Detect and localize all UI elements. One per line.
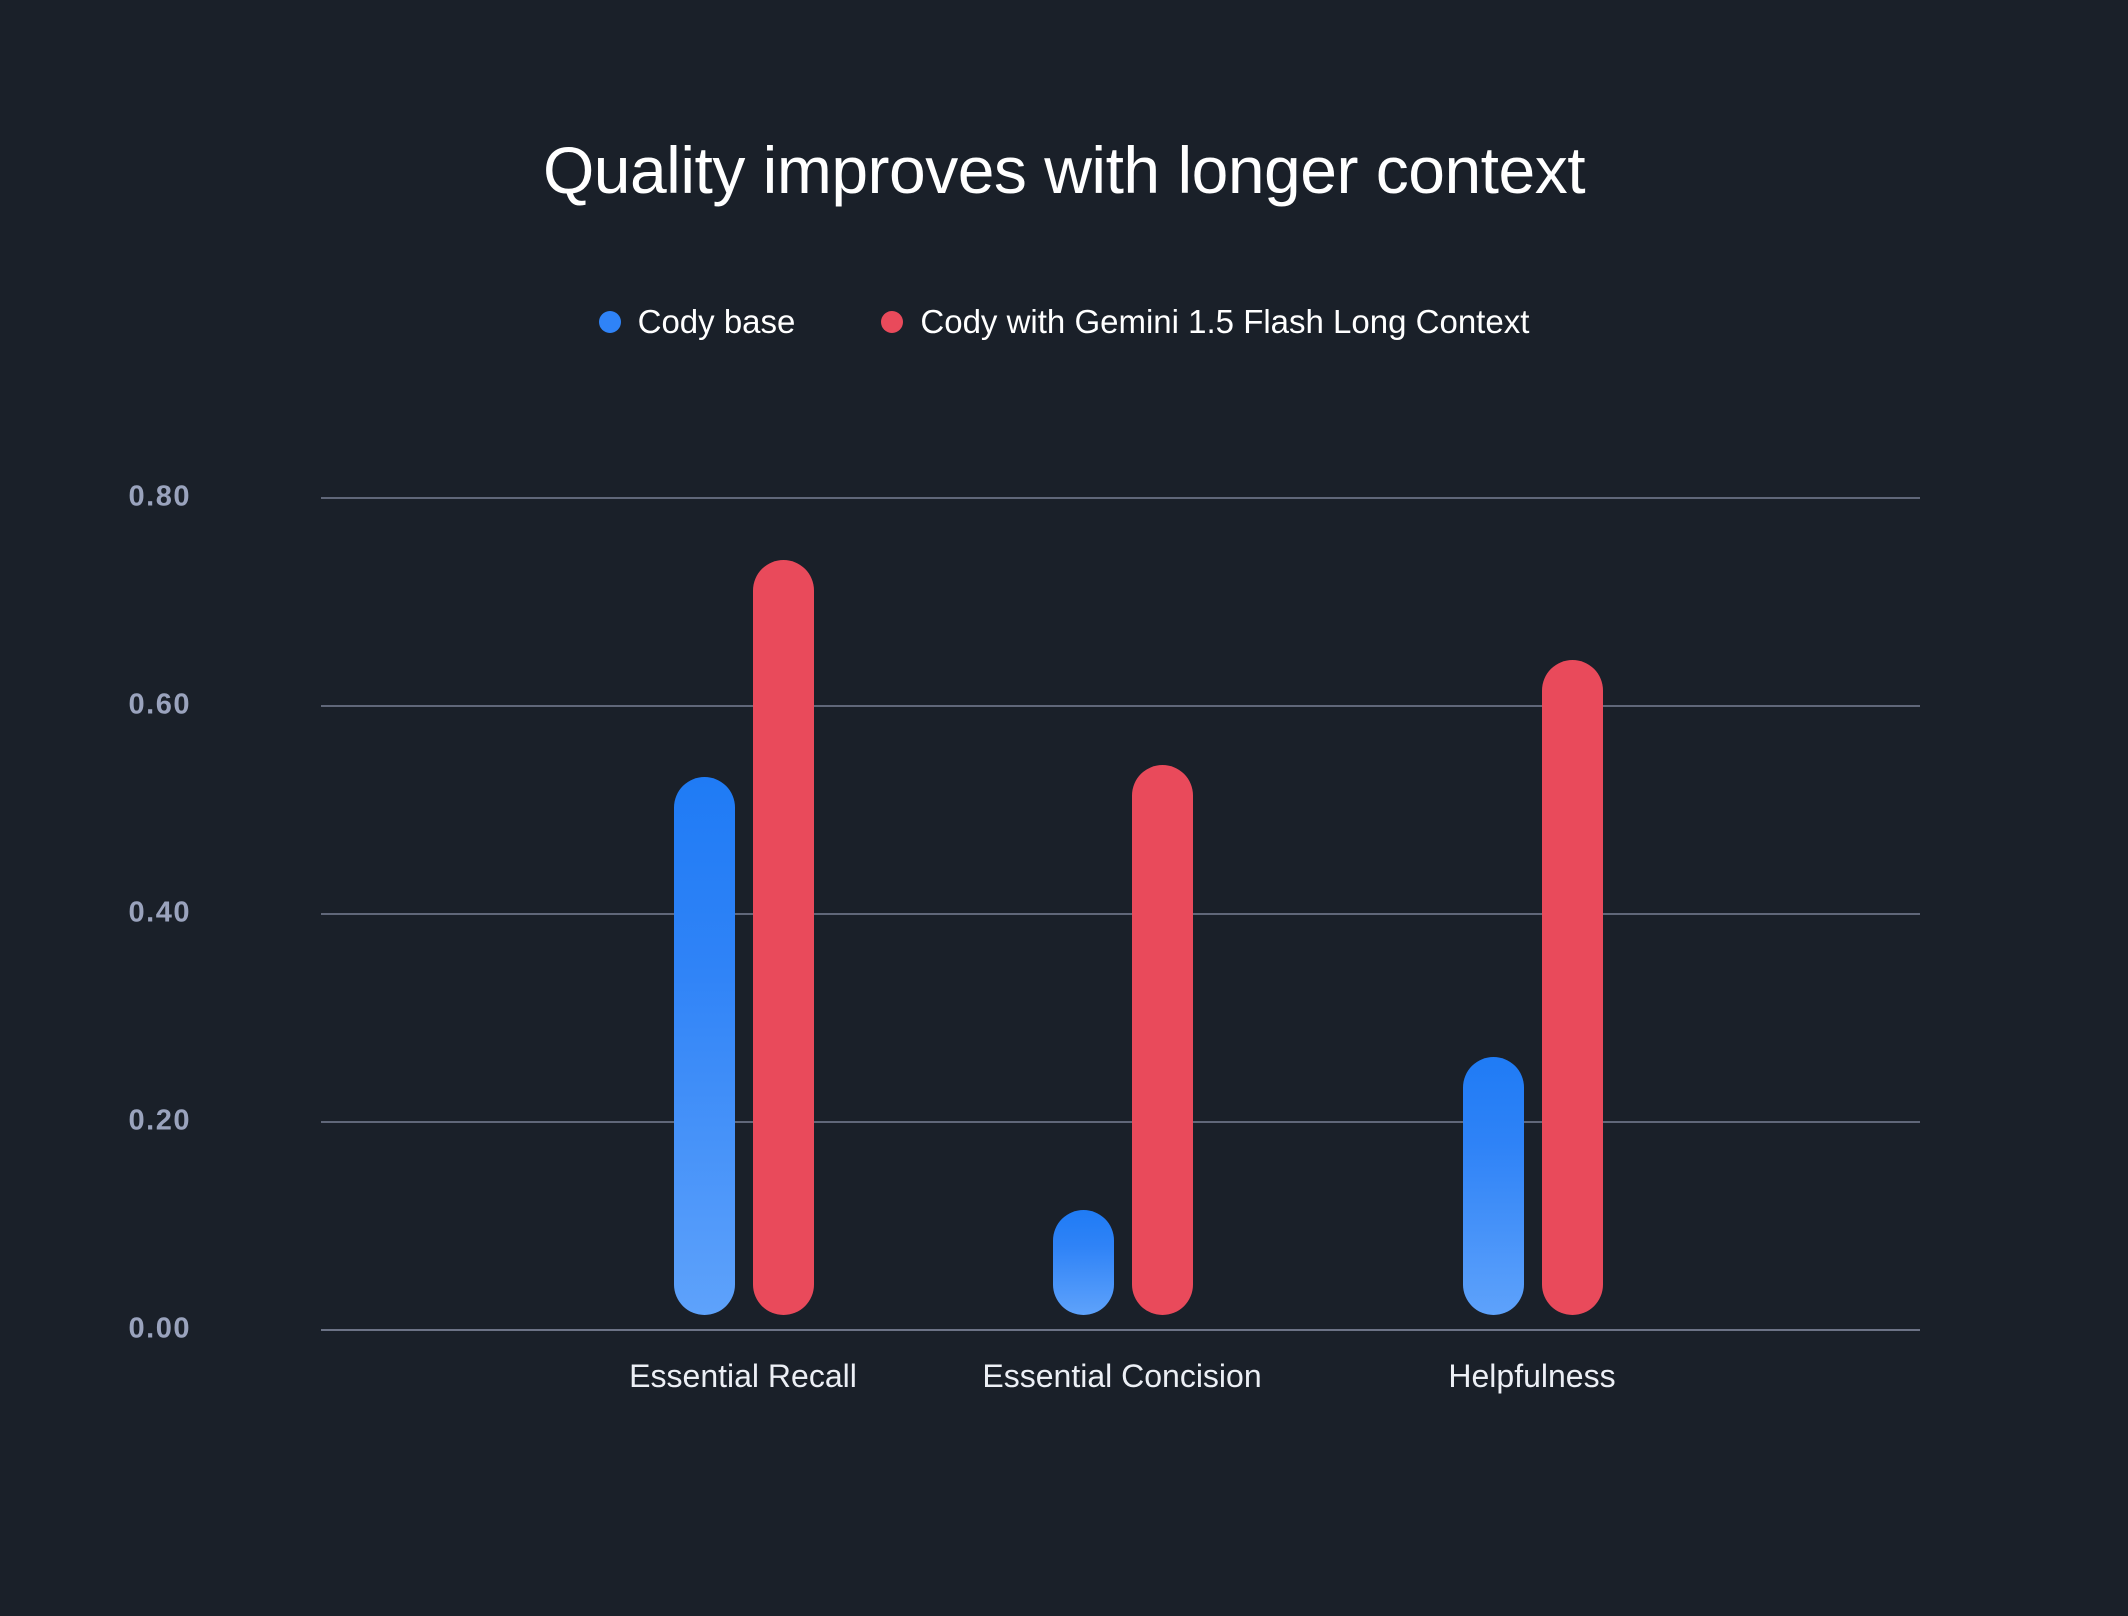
x-axis-label-helpfulness: Helpfulness — [1448, 1358, 1615, 1395]
legend-swatch-icon-series-a — [599, 311, 621, 333]
y-axis-tick-000: 0.00 — [129, 1313, 191, 1346]
bars-layer — [321, 497, 1920, 1329]
bar-essential-concision-cody-gemini[interactable] — [1132, 765, 1193, 1315]
legend-swatch-icon-series-b — [881, 311, 903, 333]
x-axis-label-essential-concision: Essential Concision — [982, 1358, 1261, 1395]
chart-canvas: Quality improves with longer context Cod… — [0, 0, 2128, 1616]
legend-label-series-a: Cody base — [638, 303, 796, 341]
x-axis-tick-labels: Essential Recall Essential Concision Hel… — [321, 1358, 1920, 1418]
chart-legend: Cody base Cody with Gemini 1.5 Flash Lon… — [0, 303, 2128, 341]
chart-title: Quality improves with longer context — [0, 132, 2128, 208]
legend-item-cody-base[interactable]: Cody base — [599, 303, 796, 341]
y-axis-tick-040: 0.40 — [129, 897, 191, 930]
gridline-000-baseline — [321, 1329, 1920, 1331]
bar-essential-concision-cody-base[interactable] — [1053, 1210, 1114, 1315]
legend-label-series-b: Cody with Gemini 1.5 Flash Long Context — [920, 303, 1529, 341]
legend-item-cody-gemini-long-context[interactable]: Cody with Gemini 1.5 Flash Long Context — [881, 303, 1529, 341]
bar-helpfulness-cody-gemini[interactable] — [1542, 660, 1603, 1315]
y-axis-tick-020: 0.20 — [129, 1105, 191, 1138]
y-axis-tick-labels: 0.80 0.60 0.40 0.20 0.00 — [0, 497, 321, 1329]
bar-essential-recall-cody-gemini[interactable] — [753, 560, 814, 1315]
plot-area — [321, 497, 1920, 1329]
y-axis-tick-060: 0.60 — [129, 689, 191, 722]
bar-essential-recall-cody-base[interactable] — [674, 777, 735, 1315]
x-axis-label-essential-recall: Essential Recall — [629, 1358, 857, 1395]
y-axis-tick-080: 0.80 — [129, 481, 191, 514]
bar-helpfulness-cody-base[interactable] — [1463, 1057, 1524, 1315]
